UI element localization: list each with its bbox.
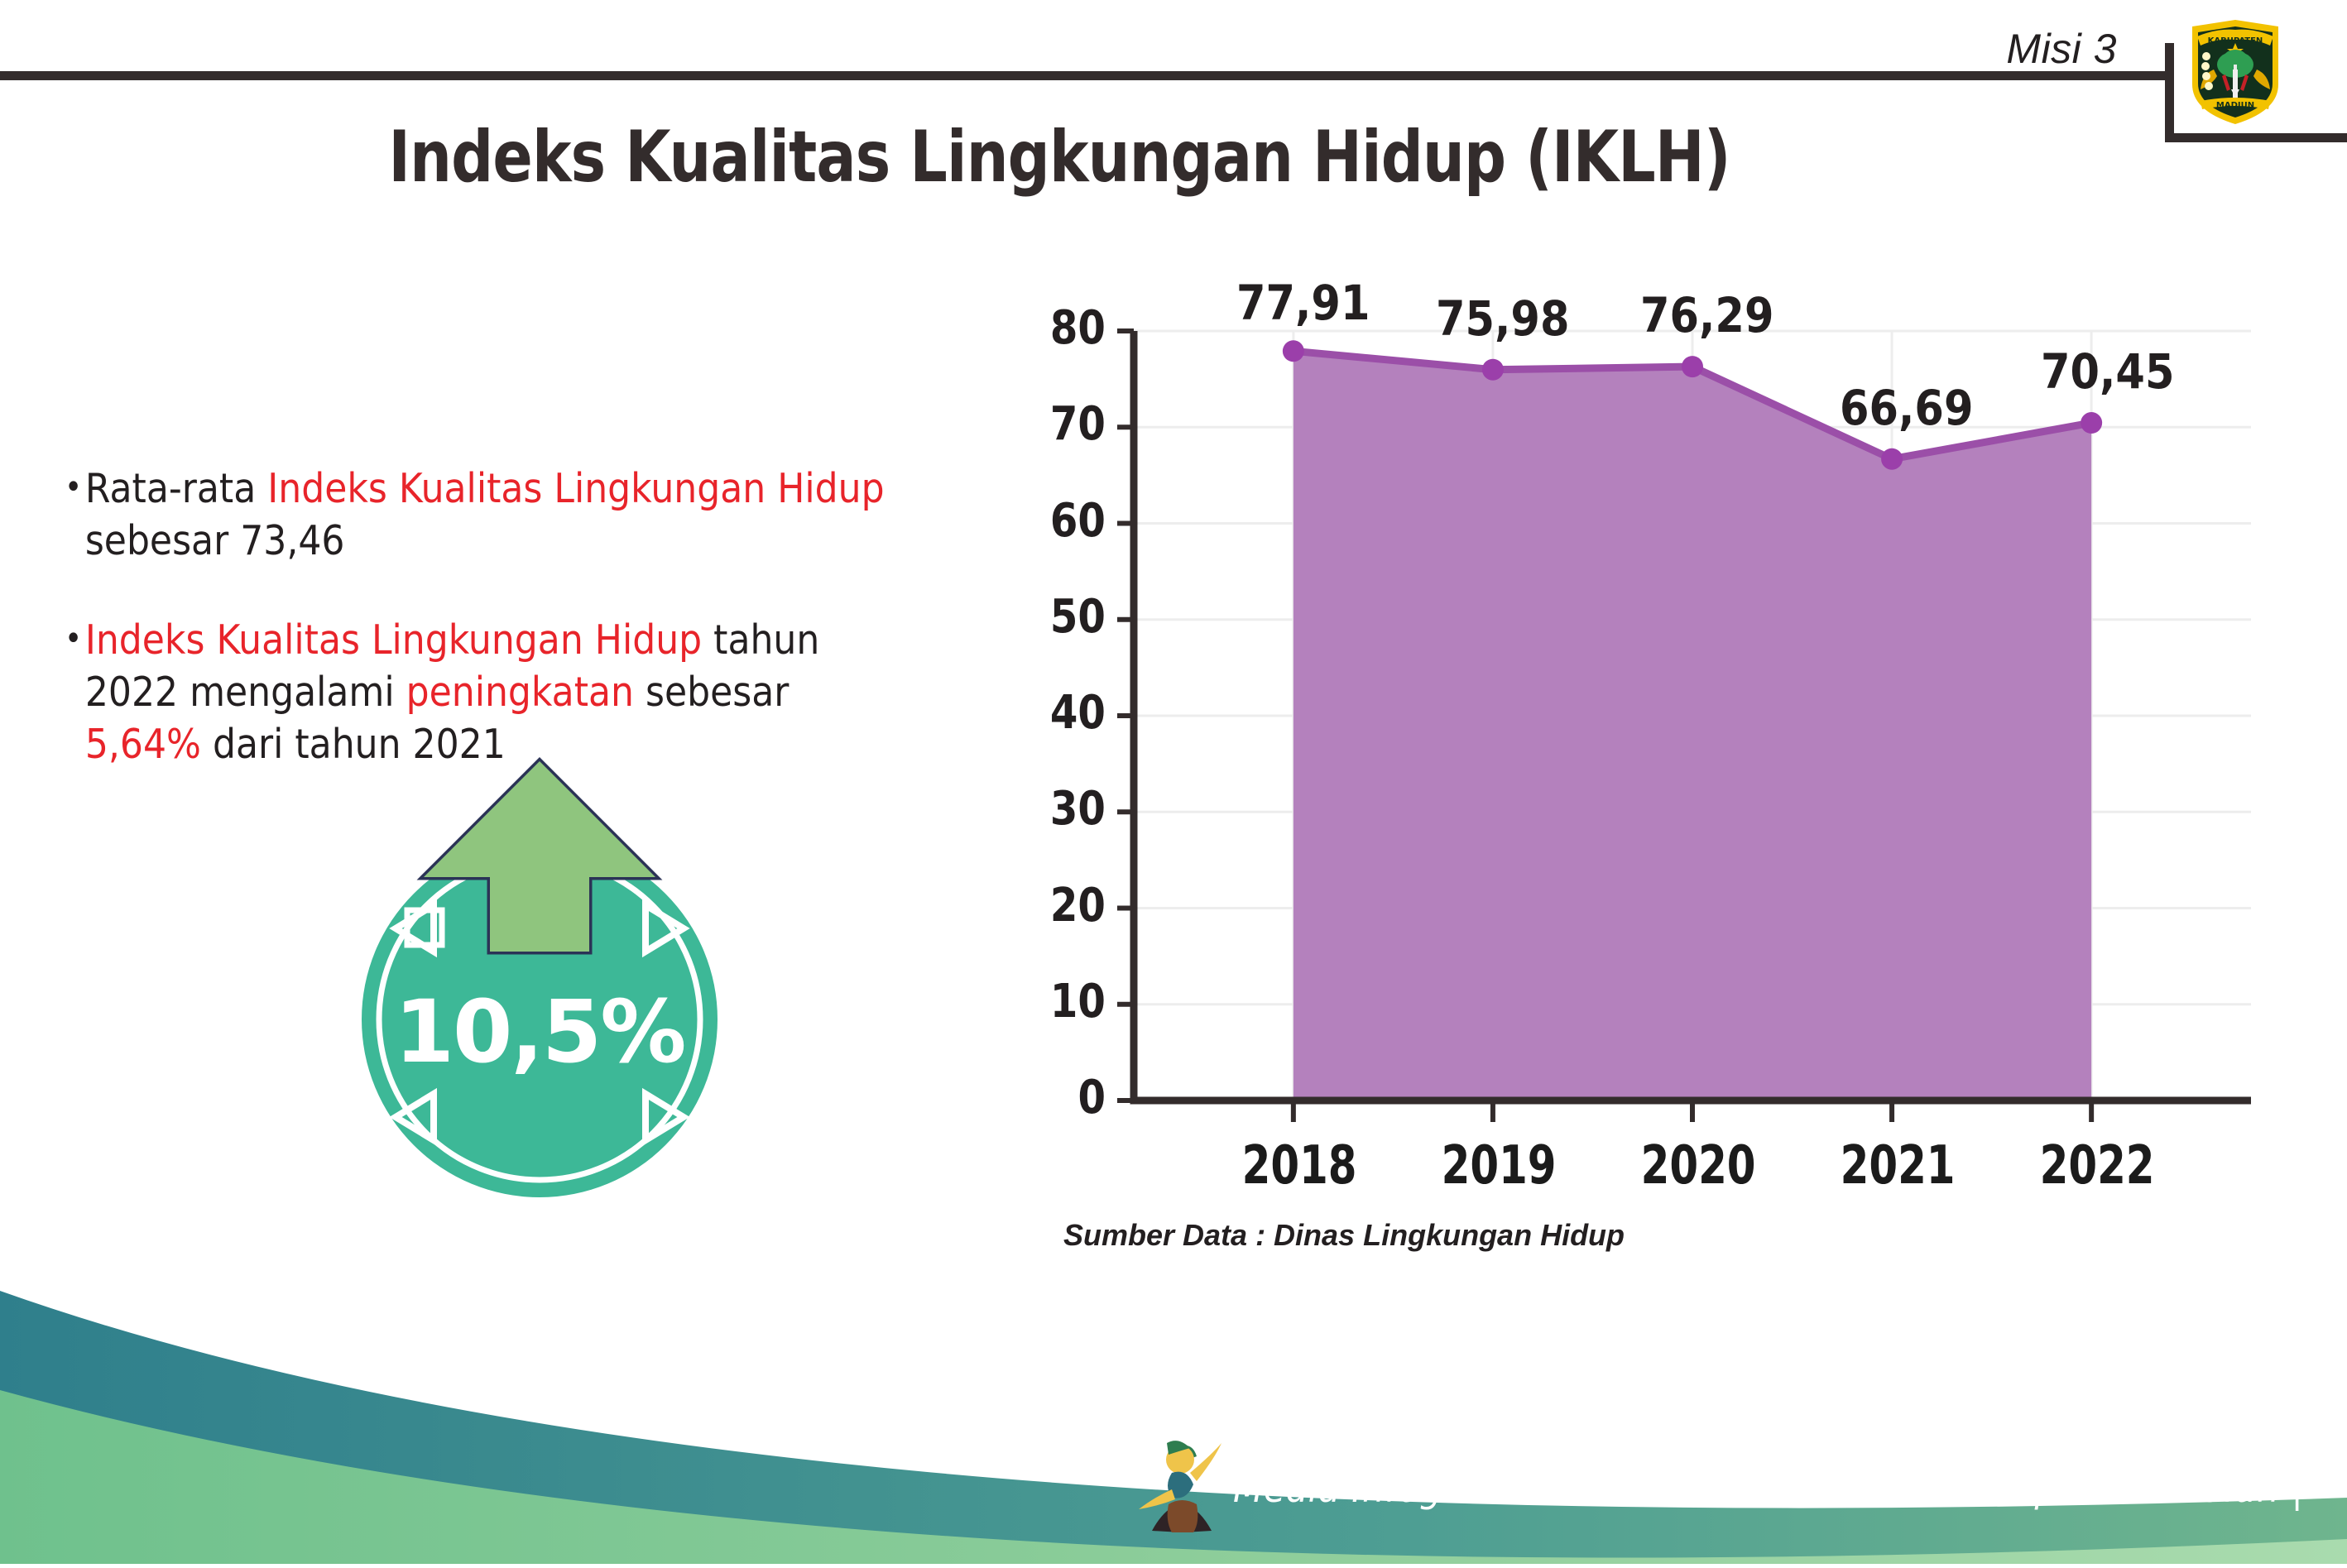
kabupaten-madiun-emblem-icon: KABUPATEN MADIUN (2189, 18, 2282, 126)
page-title: Indeks Kualitas Lingkungan Hidup (IKLH) (180, 116, 1939, 199)
bullet-highlight: peningkatan (406, 669, 634, 716)
misi-label: Misi 3 (2006, 25, 2117, 73)
x-axis-label: 2021 (1841, 1135, 1956, 1196)
bullet-item: •Indeks Kualitas Lingkungan Hidup tahun … (65, 615, 899, 770)
bullet-plain: sebesar 73,46 (85, 517, 345, 564)
increase-badge: 10,5% (324, 755, 755, 1201)
bullet-highlight: 5,64% (85, 721, 201, 768)
x-axis-label: 2022 (2040, 1135, 2155, 1196)
bullet-highlight: Indeks Kualitas Lingkungan Hidup (85, 616, 702, 664)
badge-value: 10,5% (324, 981, 755, 1082)
bullet-marker-icon: • (65, 615, 82, 663)
x-axis-label: 2020 (1641, 1135, 1756, 1196)
chart-canvas (977, 273, 2317, 1200)
y-axis-label: 70 (1050, 397, 1106, 451)
chart-source-note: Sumber Data : Dinas Lingkungan Hidup (1063, 1218, 1625, 1253)
header-corner-vertical (2165, 43, 2174, 142)
bullet-text: Indeks Kualitas Lingkungan Hidup tahun 2… (85, 615, 899, 770)
bullet-highlight: Indeks Kualitas Lingkungan Hidup (267, 465, 884, 512)
y-axis-label: 50 (1050, 590, 1106, 644)
data-value-label: 66,69 (1840, 380, 1973, 436)
data-value-label: 76,29 (1640, 287, 1773, 343)
data-value-label: 77,91 (1236, 275, 1370, 331)
header-rule (0, 71, 2165, 80)
data-point-marker (2081, 412, 2102, 434)
data-point-marker (1881, 448, 1903, 470)
data-value-label: 75,98 (1436, 290, 1569, 347)
y-axis-label: 60 (1050, 494, 1106, 548)
bullet-plain: sebesar (634, 669, 789, 716)
dancing-figure-logo-icon (1135, 1430, 1228, 1539)
y-axis-label: 40 (1050, 686, 1106, 740)
bullet-marker-icon: • (65, 463, 82, 511)
badge-graphic (324, 755, 755, 1201)
y-axis-label: 10 (1050, 975, 1106, 1029)
iklh-area-chart: 010203040506070802018201920202021202277,… (977, 273, 2317, 1200)
data-point-marker (1283, 340, 1304, 362)
bullet-text: Rata-rata Indeks Kualitas Lingkungan Hid… (85, 463, 899, 567)
data-point-marker (1482, 359, 1504, 381)
bullet-plain: Rata-rata (85, 465, 267, 512)
y-axis-label: 30 (1050, 782, 1106, 836)
y-axis-label: 0 (1078, 1071, 1106, 1124)
footer-text: Media Infografis Data Statistik Sektoral… (1233, 1466, 2303, 1511)
y-axis-label: 20 (1050, 879, 1106, 933)
area-fill (1293, 351, 2091, 1100)
x-axis-label: 2018 (1241, 1135, 1356, 1196)
x-axis-label: 2019 (1442, 1135, 1557, 1196)
data-value-label: 70,45 (2041, 343, 2174, 400)
bullet-item: •Rata-rata Indeks Kualitas Lingkungan Hi… (65, 463, 899, 567)
header-corner-horizontal (2165, 133, 2347, 142)
y-axis-label: 80 (1050, 301, 1106, 355)
data-point-marker (1682, 356, 1703, 377)
emblem-bottom-text: MADIUN (2216, 101, 2254, 110)
